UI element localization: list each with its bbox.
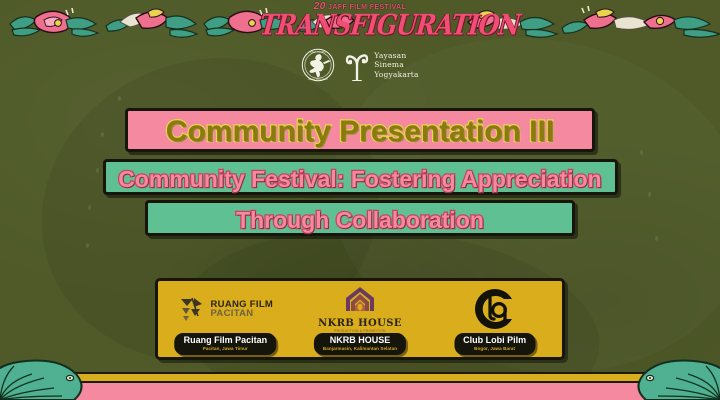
- poster-canvas: 20 JAFF FILM FESTIVAL TRANSFIGURATION JO…: [0, 0, 720, 400]
- partner-caption: NKRB HOUSE Banjarmasin, Kalimantan Selat…: [314, 333, 406, 355]
- foundation-line-2: Sinema: [374, 60, 418, 70]
- partner-logo: [431, 289, 559, 329]
- partner-panel: RUANG FILM PACITAN Ruang Film Pacitan Pa…: [155, 278, 565, 360]
- lily-pad-icon: [0, 348, 112, 400]
- partner-caption: Ruang Film Pacitan Pacitan, Jawa Timur: [175, 333, 277, 355]
- foundation-line-1: Yayasan: [374, 51, 418, 61]
- partner-logo-tagline: PRODUCTION & PROMOTION: [318, 329, 402, 333]
- circular-seal-icon: JOGJA NETPAC ASIAN FILM FEST: [301, 48, 335, 82]
- yayasan-tree-icon: [344, 49, 370, 81]
- ruang-film-pacitan-logo-icon: [178, 294, 208, 324]
- partner-location: Pacitan, Jawa Timur: [184, 346, 268, 352]
- nkrb-house-logo-icon: [345, 286, 375, 312]
- partner-logo: RUANG FILM PACITAN: [161, 289, 289, 329]
- club-lobi-pilm-logo-icon: [473, 288, 517, 330]
- background-speck: [118, 96, 121, 101]
- svg-text:ASIAN FILM FEST: ASIAN FILM FEST: [308, 79, 329, 81]
- foundation-line-3: Yogyakarta: [374, 70, 418, 80]
- background-speck: [86, 243, 89, 248]
- partner-ruang-film-pacitan: RUANG FILM PACITAN Ruang Film Pacitan Pa…: [161, 289, 289, 329]
- festival-wordmark: 20 JAFF FILM FESTIVAL TRANSFIGURATION: [260, 2, 460, 38]
- yayasan-sinema-yogyakarta-logo: Yayasan Sinema Yogyakarta: [344, 49, 418, 81]
- lotus-flower-border-icon: [640, 0, 720, 42]
- festival-theme-wordmark: TRANSFIGURATION: [258, 10, 461, 41]
- partner-club-lobi-pilm: Club Lobi Pilm Bogor, Jawa Barat: [431, 289, 559, 329]
- partner-logo: NKRB HOUSE PRODUCTION & PROMOTION: [296, 289, 424, 329]
- partner-caption: Club Lobi Pilm Bogor, Jawa Barat: [454, 333, 535, 355]
- partner-name: Club Lobi Pilm: [463, 335, 526, 346]
- subtitle-line2: Through Collaboration: [236, 207, 484, 233]
- subtitle-band-line2: Through Collaboration: [145, 200, 575, 236]
- partner-location: Banjarmasin, Kalimantan Selatan: [323, 346, 397, 352]
- organizer-logo-row: JOGJA NETPAC ASIAN FILM FEST Yayasan Sin…: [0, 48, 720, 82]
- page-title: Community Presentation III: [166, 115, 554, 148]
- partner-logo-word2: PACITAN: [211, 309, 274, 318]
- svg-text:JOGJA NETPAC: JOGJA NETPAC: [309, 52, 326, 54]
- lotus-flower-border-icon: [6, 0, 102, 42]
- partner-location: Bogor, Jawa Barat: [463, 346, 526, 352]
- title-block: Community Presentation III Community Fes…: [0, 108, 720, 241]
- partner-logo-word1: NKRB HOUSE: [318, 318, 402, 329]
- lotus-flower-border-icon: [104, 0, 200, 42]
- partner-name: Ruang Film Pacitan: [184, 335, 268, 346]
- subtitle-band-line1: Community Festival: Fostering Appreciati…: [103, 159, 618, 195]
- lily-pad-icon: [608, 348, 720, 400]
- subtitle-line1: Community Festival: Fostering Appreciati…: [118, 166, 601, 192]
- partner-name: NKRB HOUSE: [323, 335, 397, 346]
- partner-nkrb-house: NKRB HOUSE PRODUCTION & PROMOTION NKRB H…: [296, 289, 424, 329]
- main-title-band: Community Presentation III: [125, 108, 595, 152]
